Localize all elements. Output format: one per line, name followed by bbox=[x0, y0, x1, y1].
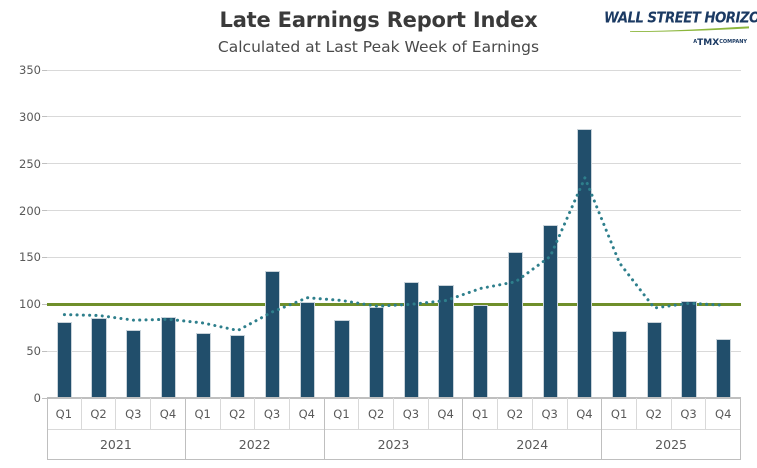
x-axis-quarter-label: Q1 bbox=[463, 398, 498, 429]
logo-tmx-mark: TMX bbox=[697, 38, 719, 48]
x-axis-quarter-row: Q1Q2Q3Q4Q1Q2Q3Q4Q1Q2Q3Q4Q1Q2Q3Q4Q1Q2Q3Q4 bbox=[47, 398, 741, 429]
x-axis-quarter-label: Q3 bbox=[533, 398, 568, 429]
x-axis-year-row: 20212022202320242025 bbox=[47, 429, 741, 460]
y-axis-tick-label: 100 bbox=[3, 297, 41, 311]
x-axis-quarter-label: Q3 bbox=[116, 398, 151, 429]
trend-line bbox=[64, 178, 723, 331]
x-axis-quarter-label: Q4 bbox=[429, 398, 464, 429]
x-axis-quarter-label: Q4 bbox=[706, 398, 741, 429]
x-axis-quarter-label: Q4 bbox=[151, 398, 186, 429]
x-axis-quarter-label: Q1 bbox=[325, 398, 360, 429]
x-axis-quarter-label: Q4 bbox=[290, 398, 325, 429]
x-axis-quarter-label: Q3 bbox=[255, 398, 290, 429]
x-axis-quarter-label: Q1 bbox=[186, 398, 221, 429]
x-axis-quarter-label: Q2 bbox=[82, 398, 117, 429]
y-axis-tick-label: 350 bbox=[3, 63, 41, 77]
x-axis-year-label: 2025 bbox=[602, 429, 741, 460]
x-axis-year-label: 2022 bbox=[186, 429, 325, 460]
x-axis: Q1Q2Q3Q4Q1Q2Q3Q4Q1Q2Q3Q4Q1Q2Q3Q4Q1Q2Q3Q4… bbox=[47, 398, 741, 460]
y-axis-tick-label: 300 bbox=[3, 110, 41, 124]
wall-street-horizon-logo: WALL STREET HORIZON ATMXCOMPANY bbox=[604, 10, 749, 56]
chart-header: Late Earnings Report Index Calculated at… bbox=[0, 0, 757, 64]
y-axis-tick-label: 200 bbox=[3, 204, 41, 218]
y-axis-tick-label: 0 bbox=[3, 391, 41, 405]
y-axis-tick-label: 50 bbox=[3, 344, 41, 358]
plot-area: 350300250200150100500 bbox=[47, 70, 741, 398]
x-axis-quarter-label: Q3 bbox=[394, 398, 429, 429]
x-axis-quarter-label: Q2 bbox=[637, 398, 672, 429]
x-axis-quarter-label: Q2 bbox=[221, 398, 256, 429]
x-axis-year-label: 2023 bbox=[325, 429, 464, 460]
y-axis-tick-label: 250 bbox=[3, 157, 41, 171]
x-axis-quarter-label: Q1 bbox=[47, 398, 82, 429]
logo-brand-text: WALL STREET HORIZON bbox=[604, 10, 749, 27]
x-axis-year-label: 2024 bbox=[463, 429, 602, 460]
logo-tmx-tagline: ATMXCOMPANY bbox=[693, 38, 747, 48]
y-axis-tick-label: 150 bbox=[3, 250, 41, 264]
x-axis-year-label: 2021 bbox=[47, 429, 186, 460]
chart-container: Late Earnings Report Index Calculated at… bbox=[0, 0, 757, 468]
x-axis-quarter-label: Q2 bbox=[498, 398, 533, 429]
x-axis-quarter-label: Q3 bbox=[672, 398, 707, 429]
logo-swoosh-icon bbox=[630, 26, 749, 32]
x-axis-quarter-label: Q2 bbox=[359, 398, 394, 429]
trend-line-layer bbox=[47, 70, 741, 398]
logo-tagline-suffix: COMPANY bbox=[719, 39, 747, 45]
x-axis-quarter-label: Q1 bbox=[602, 398, 637, 429]
x-axis-quarter-label: Q4 bbox=[568, 398, 603, 429]
